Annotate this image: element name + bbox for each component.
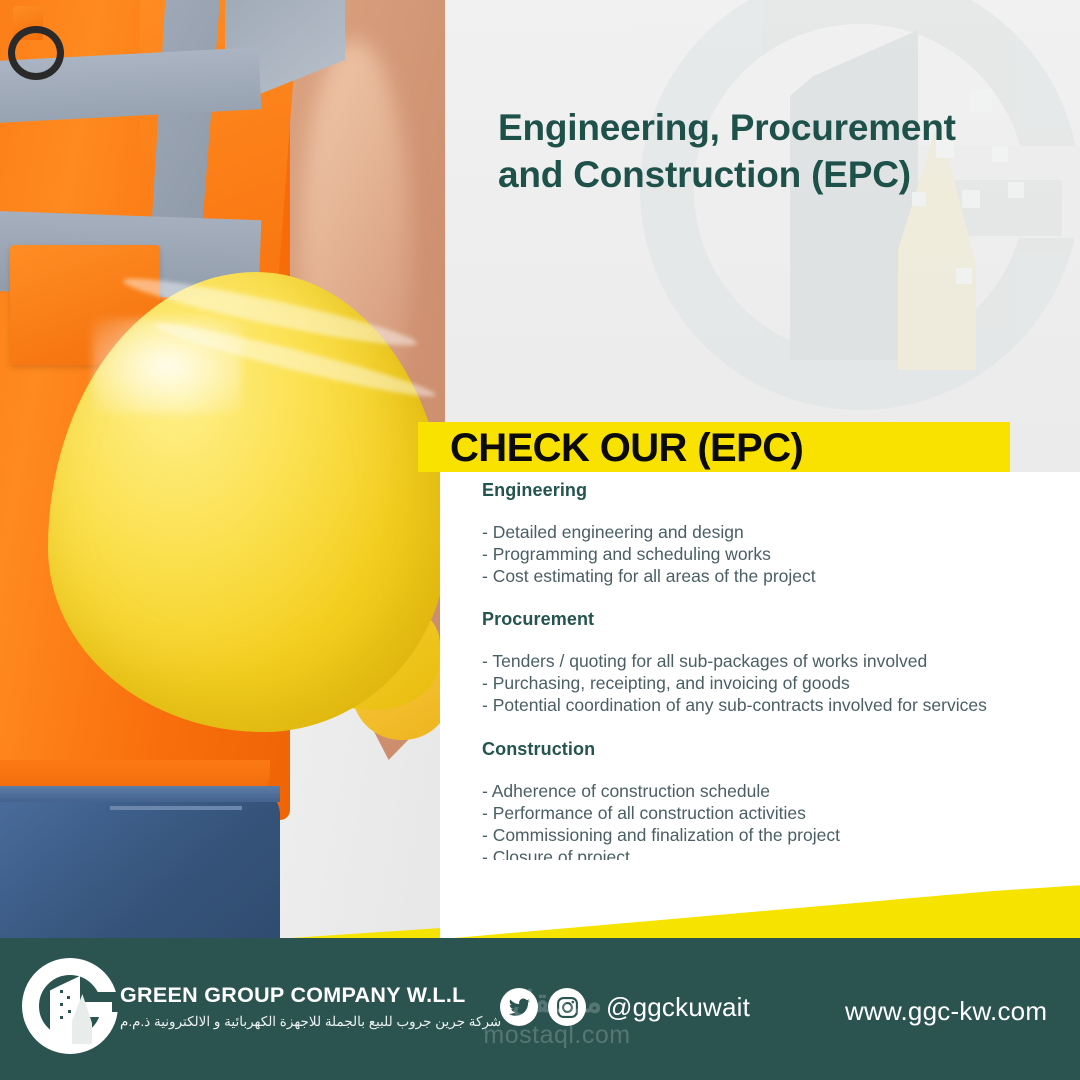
- page-title: Engineering, Procurement and Constructio…: [498, 104, 1038, 199]
- list-item: - Potential coordination of any sub-cont…: [482, 694, 1080, 716]
- list-item: - Adherence of construction schedule: [482, 780, 1080, 802]
- page-title-line2: and Construction (EPC): [498, 151, 1038, 198]
- list-item: - Tenders / quoting for all sub-packages…: [482, 650, 1080, 672]
- background-logo-watermark-icon: [640, 0, 1080, 470]
- section-heading-construction: Construction: [482, 739, 1080, 760]
- section-heading-engineering: Engineering: [482, 480, 1080, 501]
- website-url[interactable]: www.ggc-kw.com: [845, 996, 1047, 1027]
- company-name: GREEN GROUP COMPANY W.L.L: [120, 983, 466, 1008]
- section-procurement: Procurement - Tenders / quoting for all …: [482, 609, 1080, 716]
- list-item: - Performance of all construction activi…: [482, 802, 1080, 824]
- social-handle[interactable]: @ggckuwait: [606, 992, 750, 1023]
- list-item: - Cost estimating for all areas of the p…: [482, 565, 1080, 587]
- section-heading-procurement: Procurement: [482, 609, 1080, 630]
- company-name-arabic: شركة جرين جروب للبيع بالجملة للاجهزة الك…: [120, 1014, 501, 1030]
- epc-content-card: Engineering - Detailed engineering and d…: [440, 472, 1080, 907]
- instagram-icon[interactable]: [548, 988, 586, 1026]
- check-our-epc-banner: CHECK OUR (EPC): [418, 422, 1010, 472]
- list-item: - Commissioning and finalization of the …: [482, 824, 1080, 846]
- list-item: - Detailed engineering and design: [482, 521, 1080, 543]
- check-our-epc-label: CHECK OUR (EPC): [450, 426, 803, 471]
- page-title-line1: Engineering, Procurement: [498, 104, 1038, 151]
- section-list-engineering: - Detailed engineering and design - Prog…: [482, 521, 1080, 587]
- poster-canvas: Engineering, Procurement and Constructio…: [0, 0, 1080, 1080]
- footer-bar: GREEN GROUP COMPANY W.L.L شركة جرين جروب…: [0, 938, 1080, 1080]
- section-list-procurement: - Tenders / quoting for all sub-packages…: [482, 650, 1080, 716]
- section-engineering: Engineering - Detailed engineering and d…: [482, 480, 1080, 587]
- list-item: - Purchasing, receipting, and invoicing …: [482, 672, 1080, 694]
- list-item: - Programming and scheduling works: [482, 543, 1080, 565]
- worker-photo: [0, 0, 445, 945]
- social-links[interactable]: @ggckuwait: [500, 988, 750, 1026]
- company-logo-icon: [22, 958, 118, 1054]
- twitter-icon[interactable]: [500, 988, 538, 1026]
